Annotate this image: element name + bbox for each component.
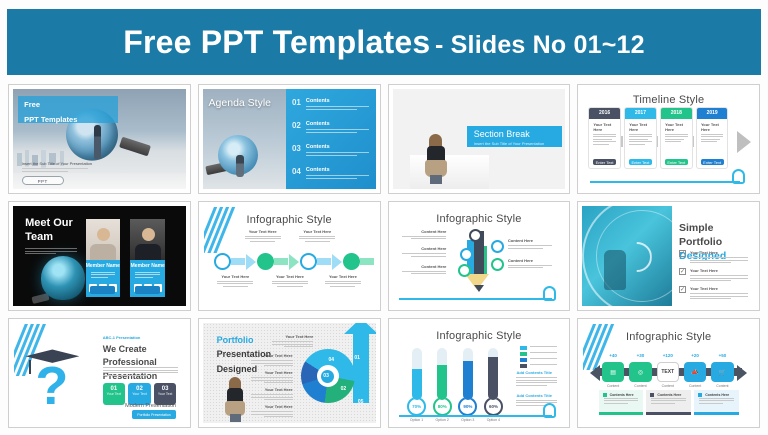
node-icon-box[interactable]: ◎ [629,362,651,382]
node-value: +40 [602,353,624,358]
slide-thumbnail-07[interactable]: Infographic Style Content Here Content H… [388,201,571,311]
title-line-1: We Create [103,344,147,354]
pencil-caption: Content Here [508,258,552,270]
title-slide: Free PPT Templates Insert the Sub Title … [13,89,186,189]
feature-card[interactable]: 01 Your Text [103,383,125,406]
checkbox-icon[interactable]: ✓ [679,286,686,293]
slide-thumbnail-12[interactable]: Infographic Style +40 ▤ Content +30 ◎ Co… [577,318,760,428]
node-value: +50 [711,353,733,358]
infographic-thermometer-slide: Infographic Style 70% Option 1 80% Optio… [394,324,565,422]
timeline-heading: Your Text Here [665,122,687,132]
bullet-dot [650,393,654,397]
text-line [306,132,357,133]
graduate-question-icon: ? [29,349,75,405]
node-value: +120 [657,353,679,358]
portfolio-button[interactable]: Portfolio Presentation [132,410,176,419]
text-line [306,152,369,153]
caption-heading: Your Text Here [251,387,292,392]
agenda-slide: Agenda Style 01 Contents 02 [203,89,376,189]
infographic-pencil-slide: Infographic Style Content Here Content H… [394,207,565,305]
slide-title: Meet Our Team [25,217,73,245]
step-chain [214,254,364,270]
item-heading: Your Text Here [690,286,748,291]
segment-label: 03 [323,373,329,379]
text-line [22,171,69,172]
node-label: Content [684,384,706,388]
gauge-label: Option 1 [407,418,426,422]
slide-thumbnail-10[interactable]: Portfolio Presentation Designed 01 02 03… [198,318,381,428]
caption-heading: Your Text Here [217,274,253,279]
slide-thumbnail-06[interactable]: Infographic Style Your Text Here [198,201,381,311]
lightbulb-icon [543,403,556,418]
timeline-card[interactable]: 2016 Your Text Here Enter Text [588,107,620,170]
person-figure [94,125,101,159]
text-line [306,109,357,110]
caption-heading: Your Text Here [251,370,292,375]
caption-heading: Your Text Here [251,404,292,409]
agenda-list-panel: 01 Contents 02 Contents [286,89,376,189]
card-heading: Contents Here [657,393,681,397]
content-card[interactable]: Contents Here [646,390,690,415]
segment-label: 05 [358,399,364,405]
subtitle-lines [25,248,77,256]
pencil-caption: Content Here [508,238,552,250]
checkbox-icon[interactable]: ✓ [679,268,686,275]
member-name: Member Name [86,260,121,269]
slide-title: Agenda Style [209,97,271,109]
portfolio-item: ✓ Your Text Here [679,286,748,301]
donut-caption: Your Text Here [251,404,292,419]
gauge-label: Option 4 [484,418,503,422]
arrow-up-icon [353,331,369,403]
card-number: 02 [128,383,150,392]
arrow-icon [737,131,751,153]
gauge-label: Option 2 [433,418,452,422]
segment-label: 02 [341,386,347,392]
header-banner: Free PPT Templates - Slides No 01~12 [8,10,760,74]
step-node-icon[interactable] [257,253,274,270]
node-text-box[interactable]: TEXT [657,362,679,382]
portfolio-item: ✓ Your Text Here [679,268,748,283]
slide-thumbnail-09[interactable]: ? ABC-1 Presentation We Create Professio… [8,318,191,428]
title-line-2: PPT Templates [18,111,118,126]
portfolio-item: ✓ Your Text Here [679,250,748,265]
simple-portfolio-slide: Simple Portfolio Designed ✓ Your Text He… [582,206,755,306]
title-line-1: Meet Our [25,217,73,229]
step-node-icon[interactable] [343,253,360,270]
timeline-year: 2019 [697,108,727,119]
timeline-year: 2016 [589,108,619,119]
gauge[interactable]: 60% Option 4 [484,348,503,422]
caption-heading: Your Text Here [245,229,281,234]
legend [520,346,558,370]
timeline-button[interactable]: Enter Text [665,159,688,166]
gauge[interactable]: 80% Option 2 [433,348,452,422]
agenda-number: 04 [292,167,301,180]
slide-title: Infographic Style [394,213,565,225]
timeline-slide: Timeline Style 2016 Your Text Here Enter… [583,90,754,188]
timeline-card[interactable]: 2018 Your Text Here Enter Text [660,107,692,170]
slide-thumbnail-03[interactable]: Section Break Insert the Sub Title of Yo… [388,84,571,194]
member-button[interactable] [90,286,115,294]
person-figure [236,155,244,177]
team-member-card[interactable]: Member Name [130,219,165,297]
card-number: 03 [154,383,176,392]
card-label: Your Text [154,392,176,396]
node-icon-box[interactable]: 📣 [684,362,706,382]
agenda-number: 02 [292,121,301,134]
item-heading: Your Text Here [690,268,748,273]
text-line [306,178,357,179]
person-figure [225,377,245,421]
gauge[interactable]: 70% Option 1 [407,348,426,422]
step-caption: Your Text Here [272,274,308,287]
agenda-item[interactable]: 01 Contents [292,98,369,111]
subtitle-block: Insert the Sub Title of Your Presentatio… [22,161,117,173]
gauge-label: Option 3 [458,418,477,422]
card-heading: Contents Here [610,393,634,397]
text-line [306,106,369,107]
content-card[interactable]: Contents Here [599,390,643,415]
card-heading: Contents Here [705,393,729,397]
node-value: +20 [684,353,706,358]
bullet-dot [698,393,702,397]
gauge[interactable]: 90% Option 3 [458,348,477,422]
agenda-label: Contents [306,144,369,150]
block-heading: Add Contents Title [516,370,557,375]
agenda-label: Contents [306,167,369,173]
step-caption: Your Text Here [299,229,335,242]
card-label: Your Text [128,392,150,396]
lightbulb-icon [732,169,745,184]
desk [410,155,489,189]
infographic-chain-slide: Infographic Style Your Text Here [204,207,375,305]
donut-caption: Your Text Here [272,334,313,349]
node-icon[interactable] [469,229,482,242]
avatar [130,219,165,260]
team-member-card[interactable]: Member Name [86,219,121,297]
slide-grid: Free PPT Templates Insert the Sub Title … [8,84,760,428]
checkbox-icon[interactable]: ✓ [679,250,686,257]
lightbulb-icon [543,286,556,301]
card-label: Your Text [103,392,125,396]
slide-title: Infographic Style [583,331,754,343]
paragraph-lines [103,367,178,377]
kicker-text: ABC-1 Presentation [103,335,141,340]
node-icon[interactable] [491,240,504,253]
caption-heading: Your Text Here [272,334,313,339]
subtitle-text: Insert the Sub Title of Your Presentatio… [22,161,117,166]
pencil-caption: Content Here [402,246,446,258]
page-title-main: Free PPT Templates [123,24,430,60]
step-caption: Your Text Here [245,229,281,242]
bulb-neck [119,137,151,157]
title-line-1: Free [18,96,118,111]
timeline-button[interactable]: Enter Text [593,159,616,166]
slide-thumbnail-11[interactable]: Infographic Style 70% Option 1 80% Optio… [388,318,571,428]
timeline-heading: Your Text Here [593,122,615,132]
card-number: 01 [103,383,125,392]
bullet-dot [603,393,607,397]
slide-thumbnail-02[interactable]: Agenda Style 01 Contents 02 [198,84,381,194]
timeline-year: 2018 [661,108,691,119]
section-break-slide: Section Break Insert the Sub Title of Yo… [393,89,566,189]
page-title: Free PPT Templates - Slides No 01~12 [123,24,645,61]
title-line-2: Team [25,231,53,243]
caption-heading: Content Here [508,258,552,263]
slide-title: Infographic Style [204,214,375,226]
slide-thumbnail-05[interactable]: Meet Our Team Member Name Member Name [8,201,191,311]
person-figure [425,135,447,183]
portfolio-photo [582,206,672,306]
agenda-item[interactable]: 03 Contents [292,144,369,157]
caption-heading: Your Text Here [325,274,361,279]
step-caption: Your Text Here [217,274,253,287]
timeline-card[interactable]: 2019 Your Text Here Enter Text [696,107,728,170]
we-create-slide: ? ABC-1 Presentation We Create Professio… [14,324,185,422]
logo-badge: PPT [22,176,64,185]
caption-heading: Your Text Here [299,229,335,234]
feature-card[interactable]: 02 Your Text [128,383,150,406]
text-line [306,155,357,156]
node-icon-box[interactable]: ▤ [602,362,624,382]
agenda-number: 01 [292,98,301,111]
item-heading: Your Text Here [690,250,748,255]
accent-line [399,298,553,300]
pencil-lead [474,285,484,292]
slide-thumbnail-08[interactable]: Simple Portfolio Designed ✓ Your Text He… [577,201,760,311]
accent-line [399,415,553,417]
block-heading: Add Contents Title [516,393,557,398]
segment-label: 01 [354,355,360,361]
templates-preview-page: Free PPT Templates - Slides No 01~12 Fre… [0,0,768,435]
lightbulb-icon [41,256,85,300]
arrow-left-icon [590,365,600,381]
timeline-button[interactable]: Enter Text [629,159,652,166]
timeline-heading: Your Text Here [629,122,651,132]
caption-heading: Content Here [402,264,446,269]
content-card[interactable]: Contents Here [694,390,738,415]
agenda-image-panel: Agenda Style [203,89,286,189]
title-line-1: Portfolio [217,335,254,345]
pencil-caption: Content Here [402,229,446,241]
step-caption: Your Text Here [325,274,361,287]
page-title-sub: - Slides No 01~12 [435,31,645,59]
content-block: Add Contents Title [516,370,557,387]
node-label: Content [657,384,679,388]
node-label: Content [711,384,733,388]
caption-heading: Your Text Here [272,274,308,279]
text-line [306,129,369,130]
step-node-icon[interactable] [214,253,231,270]
feature-card[interactable]: 03 Your Text [154,383,176,406]
pencil-caption: Content Here [402,264,446,276]
title-banner: Free PPT Templates [18,96,118,123]
timeline-button[interactable]: Enter Text [701,159,724,166]
legs [430,175,442,184]
portfolio-donut-slide: Portfolio Presentation Designed 01 02 03… [203,323,376,423]
text-line [22,168,89,169]
node-value: +30 [629,353,651,358]
slide-title: Timeline Style [583,94,754,106]
agenda-item[interactable]: 04 Contents [292,167,369,180]
slide-title: Infographic Style [394,330,565,342]
caption-heading: Your Text Here [251,353,292,358]
step-node-icon[interactable] [300,253,317,270]
member-button[interactable] [135,286,160,294]
timeline-card[interactable]: 2017 Your Text Here Enter Text [624,107,656,170]
slide-thumbnail-04[interactable]: Timeline Style 2016 Your Text Here Enter… [577,84,760,194]
avatar [86,219,121,260]
title-line-1: Simple Portfolio [679,222,722,248]
agenda-label: Contents [306,121,369,127]
timeline-year: 2017 [625,108,655,119]
caption-heading: Content Here [402,229,446,234]
donut-caption: Your Text Here [251,370,292,385]
meet-our-team-slide: Meet Our Team Member Name Member Name [13,206,186,306]
node-label: Content [629,384,651,388]
text-line [306,175,369,176]
slide-thumbnail-01[interactable]: Free PPT Templates Insert the Sub Title … [8,84,191,194]
timeline-heading: Your Text Here [701,122,723,132]
caption-heading: Content Here [508,238,552,243]
slide-subtitle: Insert the Sub Title of Your Presentatio… [467,139,562,146]
section-banner: Section Break Insert the Sub Title of Yo… [467,126,562,147]
agenda-number: 03 [292,144,301,157]
node-icon-box[interactable]: 🛒 [711,362,733,382]
donut-caption: Your Text Here [251,353,292,368]
node-icon[interactable] [491,258,504,271]
agenda-item[interactable]: 02 Contents [292,121,369,134]
tassel [29,360,31,374]
person-figure [604,250,626,290]
slide-title: Section Break [467,126,562,139]
infographic-axis-slide: Infographic Style +40 ▤ Content +30 ◎ Co… [583,324,754,422]
node-label: Content [602,384,624,388]
segment-label: 04 [328,357,334,363]
donut-caption: Your Text Here [251,387,292,402]
question-mark-icon: ? [35,359,68,413]
arrow-right-icon [737,365,747,381]
member-name: Member Name [130,260,165,269]
agenda-label: Contents [306,98,369,104]
footer-label: Modern Presentation [125,403,176,409]
caption-heading: Content Here [402,246,446,251]
accent-line [590,181,740,183]
